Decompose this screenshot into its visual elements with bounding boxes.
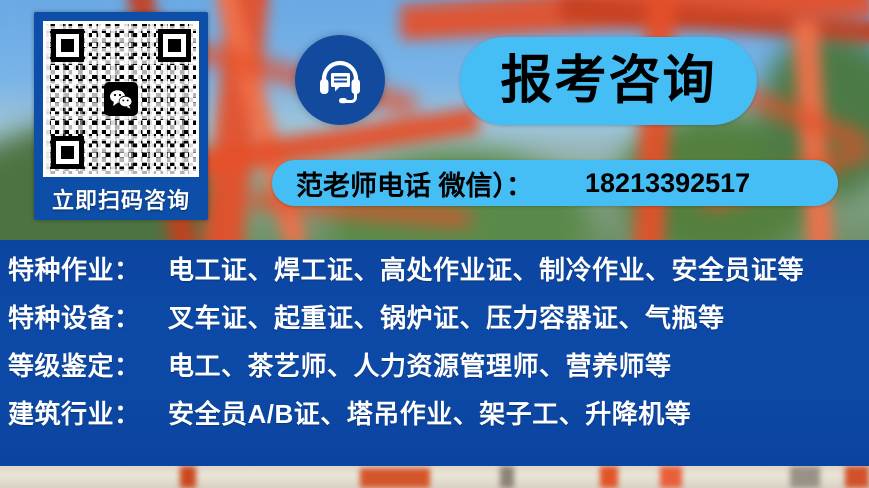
contact-label-text: 范老师电话 微信）：	[296, 164, 533, 203]
contact-phone-number[interactable]: 18213392517	[585, 168, 750, 199]
consultation-title-text: 报考咨询	[500, 55, 716, 107]
info-row: 特种设备： 叉车证、起重证、锅炉证、压力容器证、气瓶等	[8, 298, 869, 346]
wechat-icon	[104, 82, 138, 116]
strip-blob	[360, 468, 430, 488]
strip-blob	[845, 466, 869, 488]
strip-blob	[600, 466, 618, 488]
qr-code-bitmap	[46, 24, 196, 174]
info-row: 等级鉴定： 电工、茶艺师、人力资源管理师、营养师等	[8, 346, 869, 394]
info-row-items: 叉车证、起重证、锅炉证、压力容器证、气瓶等	[168, 298, 869, 335]
info-row-items: 电工、茶艺师、人力资源管理师、营养师等	[168, 346, 869, 383]
qr-finder-pattern-icon	[51, 136, 84, 169]
scaffold-bar	[215, 0, 308, 248]
promo-banner-screen: 立即扫码咨询 报考咨询 范老师电话 微信）： 18213392517 特种作业：…	[0, 0, 869, 488]
strip-blob	[660, 466, 682, 488]
qr-code-card[interactable]: 立即扫码咨询	[34, 12, 208, 220]
info-row: 建筑行业： 安全员A/B证、塔吊作业、架子工、升降机等	[8, 394, 869, 442]
qr-caption-text: 立即扫码咨询	[34, 186, 208, 216]
consultation-title-pill[interactable]: 报考咨询	[460, 37, 757, 125]
strip-blob	[180, 466, 196, 488]
contact-phone-pill[interactable]: 范老师电话 微信）： 18213392517	[272, 160, 838, 206]
qr-finder-pattern-icon	[158, 29, 191, 62]
info-row-category: 建筑行业：	[8, 394, 168, 431]
headset-support-icon	[295, 35, 385, 125]
info-row-category: 特种作业：	[8, 250, 168, 287]
info-row-items: 安全员A/B证、塔吊作业、架子工、升降机等	[168, 394, 869, 431]
certification-info-panel: 特种作业： 电工证、焊工证、高处作业证、制冷作业、安全员证等 特种设备： 叉车证…	[0, 240, 869, 466]
bottom-photo-strip	[0, 466, 869, 488]
info-row-category: 特种设备：	[8, 298, 168, 335]
info-row: 特种作业： 电工证、焊工证、高处作业证、制冷作业、安全员证等	[8, 250, 869, 298]
info-row-items: 电工证、焊工证、高处作业证、制冷作业、安全员证等	[168, 250, 869, 287]
info-row-category: 等级鉴定：	[8, 346, 168, 383]
scaffold-bar	[399, 0, 869, 40]
qr-code-image	[43, 21, 199, 177]
qr-finder-pattern-icon	[51, 29, 84, 62]
strip-blob	[790, 466, 820, 488]
scaffold-bar	[792, 19, 834, 250]
strip-blob	[500, 466, 514, 488]
